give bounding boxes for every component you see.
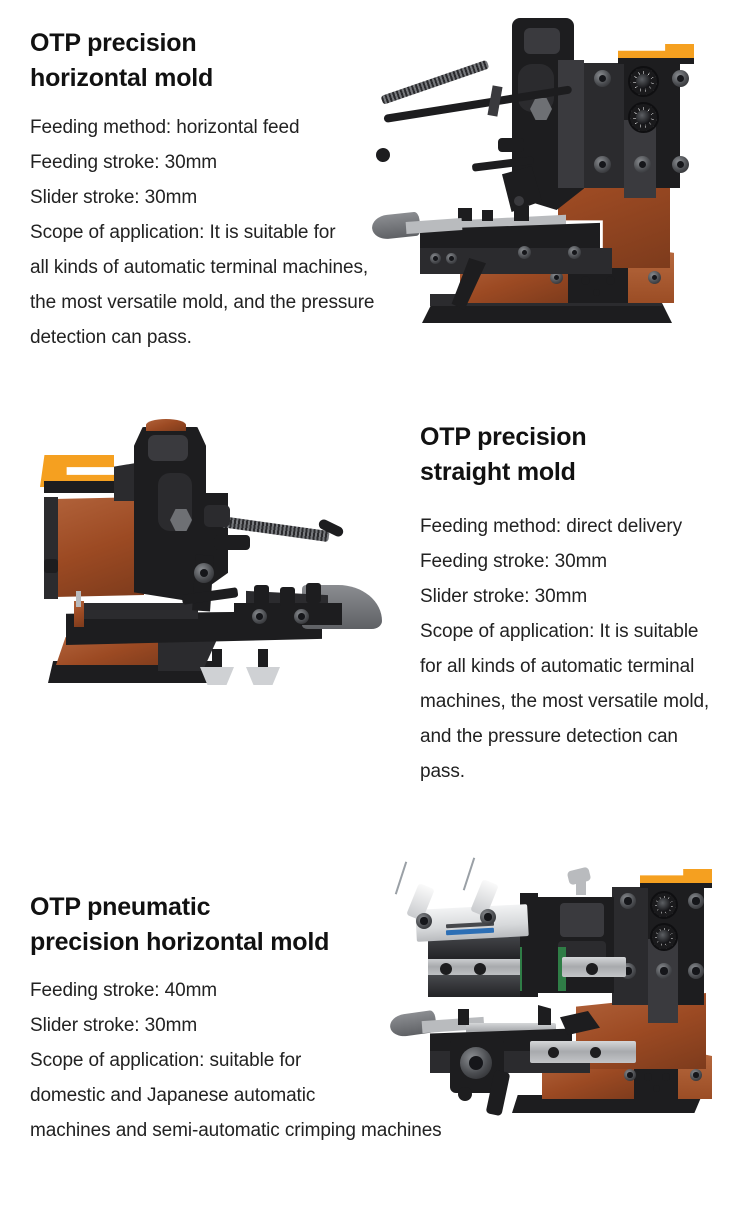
spec-feeding-method: Feeding method: direct delivery: [420, 509, 745, 544]
product-title: OTP precision straight mold: [420, 420, 745, 490]
machine-illustration: [372, 8, 750, 348]
machine-illustration: [372, 855, 750, 1155]
spec-feeding-stroke: Feeding stroke: 30mm: [420, 544, 745, 579]
machine-illustration: [18, 405, 418, 705]
product-image-straight-mold: [18, 405, 418, 705]
product-block-pneumatic-horizontal-mold: OTP pneumatic precision horizontal mold …: [0, 850, 750, 1206]
spec-feeding-stroke: Feeding stroke: 30mm: [30, 145, 395, 180]
spec-scope-of-application: Scope of application: It is suitable for…: [30, 215, 395, 355]
spec-slider-stroke: Slider stroke: 30mm: [30, 180, 395, 215]
product-block-horizontal-mold: OTP precision horizontal mold Feeding me…: [0, 0, 750, 400]
product-text-column: OTP precision straight mold Feeding meth…: [420, 420, 745, 789]
product-title: OTP precision horizontal mold: [30, 26, 395, 96]
spec-slider-stroke: Slider stroke: 30mm: [420, 579, 745, 614]
spec-list: Feeding method: direct delivery Feeding …: [420, 509, 745, 789]
product-spec-sheet: OTP precision horizontal mold Feeding me…: [0, 0, 750, 1206]
spec-feeding-method: Feeding method: horizontal feed: [30, 110, 395, 145]
spec-list: Feeding method: horizontal feed Feeding …: [30, 110, 395, 355]
product-image-pneumatic-mold: [372, 855, 750, 1155]
product-block-straight-mold: OTP precision straight mold Feeding meth…: [0, 400, 750, 850]
product-text-column: OTP precision horizontal mold Feeding me…: [30, 26, 395, 355]
product-image-horizontal-mold: [372, 8, 750, 348]
spec-scope-of-application: Scope of application: It is suitable for…: [420, 614, 745, 789]
